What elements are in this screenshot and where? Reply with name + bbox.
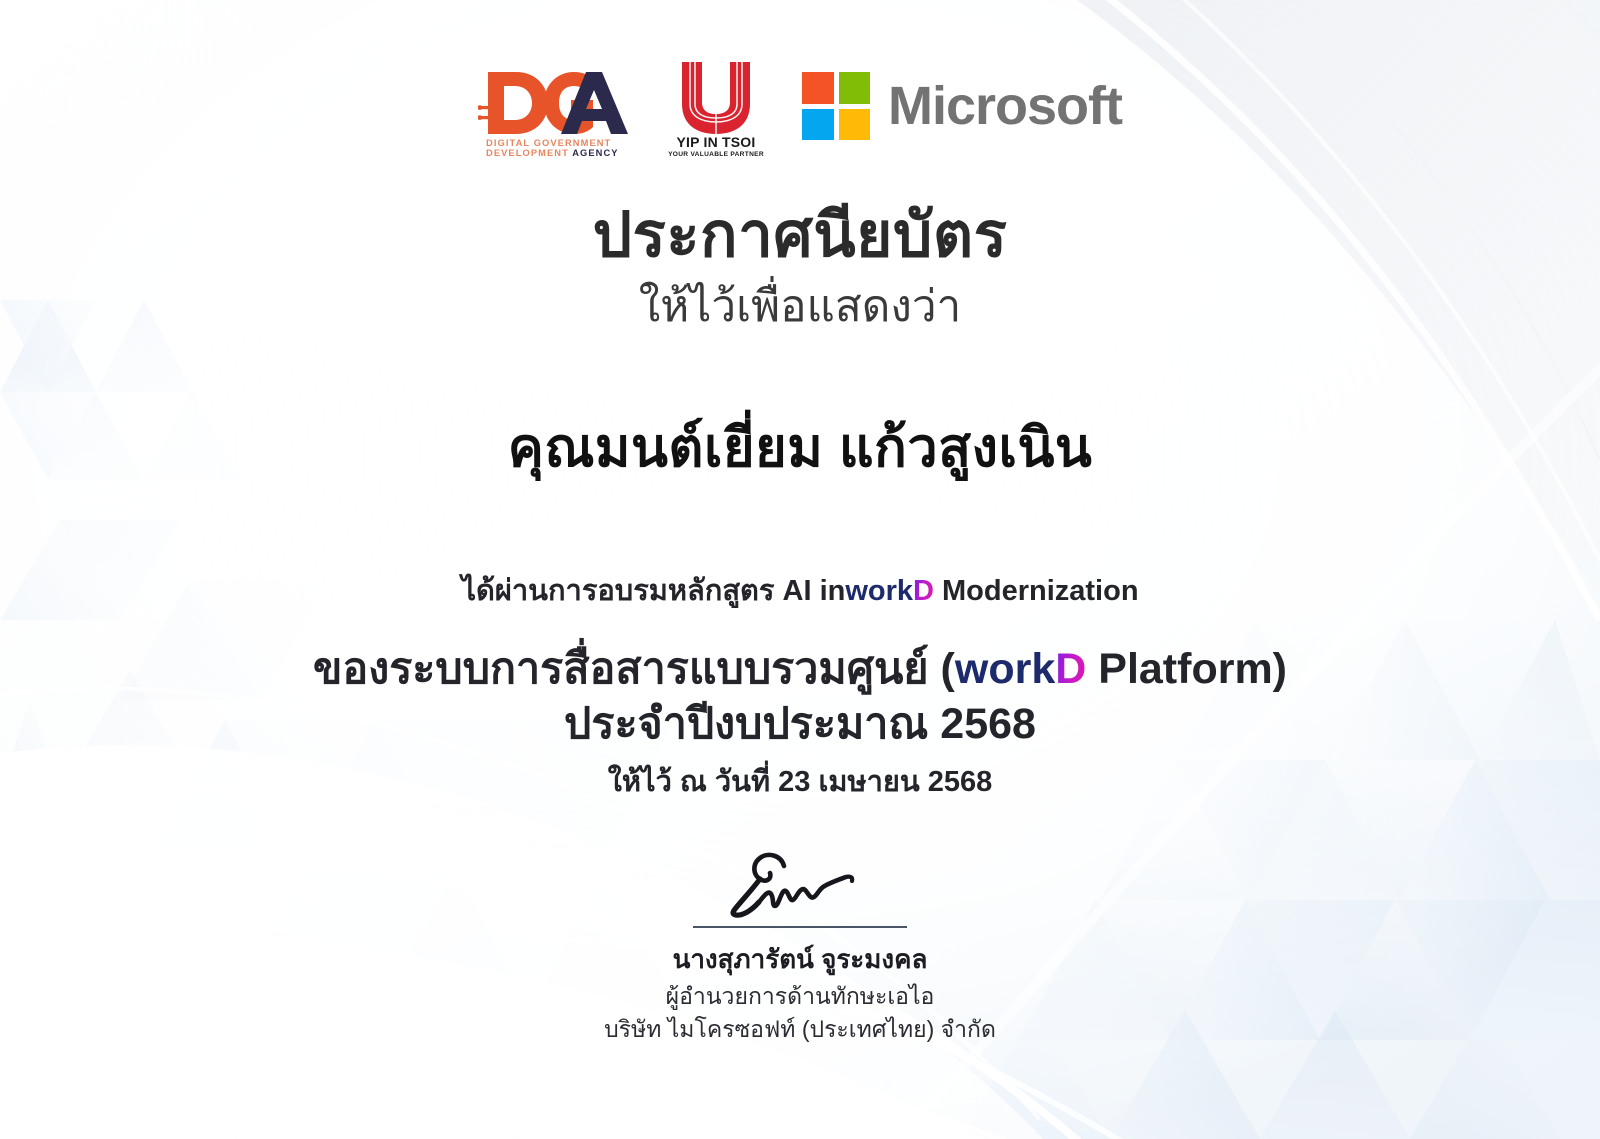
signature-block: นางสุภารัตน์ จูระมงคล ผู้อำนวยการด้านทัก… bbox=[604, 846, 996, 1045]
workd-brand-d-platform: D bbox=[1055, 645, 1086, 693]
ms-square-top-right bbox=[839, 72, 871, 104]
workd-brand-work-platform: work bbox=[955, 645, 1055, 693]
ms-square-top-left bbox=[802, 72, 834, 104]
svg-text:DEVELOPMENT AGENCY: DEVELOPMENT AGENCY bbox=[486, 148, 619, 158]
signature-mark bbox=[680, 846, 920, 924]
workd-brand-work-course: work bbox=[845, 575, 913, 607]
certificate-content: DIGITAL GOVERNMENT DEVELOPMENT AGENCY bbox=[0, 0, 1600, 1139]
fiscal-year-line: ประจำปีงบประมาณ 2568 bbox=[564, 698, 1036, 752]
microsoft-logo: Microsoft bbox=[802, 54, 1122, 158]
signer-role: ผู้อำนวยการด้านทักษะเอไอ bbox=[666, 981, 935, 1012]
signer-organization: บริษัท ไมโครซอฟท์ (ประเทศไทย) จำกัด bbox=[604, 1014, 996, 1045]
microsoft-squares-icon bbox=[802, 72, 870, 140]
platform-prefix: ของระบบการสื่อสารแบบรวมศูนย์ ( bbox=[313, 645, 955, 693]
svg-text:DIGITAL GOVERNMENT: DIGITAL GOVERNMENT bbox=[486, 138, 611, 148]
workd-brand-d-course: D bbox=[913, 575, 934, 607]
microsoft-wordmark: Microsoft bbox=[888, 79, 1122, 133]
course-suffix: Modernization bbox=[942, 575, 1139, 607]
certificate-subtitle: ให้ไว้เพื่อแสดงว่า bbox=[639, 281, 961, 334]
issue-date-line: ให้ไว้ ณ วันที่ 23 เมษายน 2568 bbox=[608, 764, 993, 802]
recipient-name: คุณมนต์เยี่ยม แก้วสูงเนิน bbox=[508, 416, 1093, 481]
platform-line: ของระบบการสื่อสารแบบรวมศูนย์ (workD Plat… bbox=[313, 643, 1287, 697]
dga-logo: DIGITAL GOVERNMENT DEVELOPMENT AGENCY bbox=[478, 54, 630, 158]
signature-rule bbox=[693, 926, 907, 928]
svg-text:YIP IN TSOI: YIP IN TSOI bbox=[677, 134, 756, 150]
signer-name: นางสุภารัตน์ จูระมงคล bbox=[673, 942, 928, 977]
logo-row: DIGITAL GOVERNMENT DEVELOPMENT AGENCY bbox=[478, 52, 1122, 160]
certificate-title: ประกาศนียบัตร bbox=[593, 200, 1008, 271]
ms-square-bottom-left bbox=[802, 109, 834, 141]
certificate-page: DIGITAL GOVERNMENT DEVELOPMENT AGENCY bbox=[0, 0, 1600, 1139]
yip-in-tsoi-logo: YIP IN TSOI YOUR VALUABLE PARTNER bbox=[668, 54, 764, 158]
platform-suffix: Platform) bbox=[1086, 645, 1287, 693]
ms-square-bottom-right bbox=[839, 109, 871, 141]
course-line: ได้ผ่านการอบรมหลักสูตร AI inworkDModerni… bbox=[461, 573, 1138, 611]
svg-text:YOUR VALUABLE PARTNER: YOUR VALUABLE PARTNER bbox=[668, 151, 764, 158]
course-prefix: ได้ผ่านการอบรมหลักสูตร AI in bbox=[461, 575, 845, 607]
